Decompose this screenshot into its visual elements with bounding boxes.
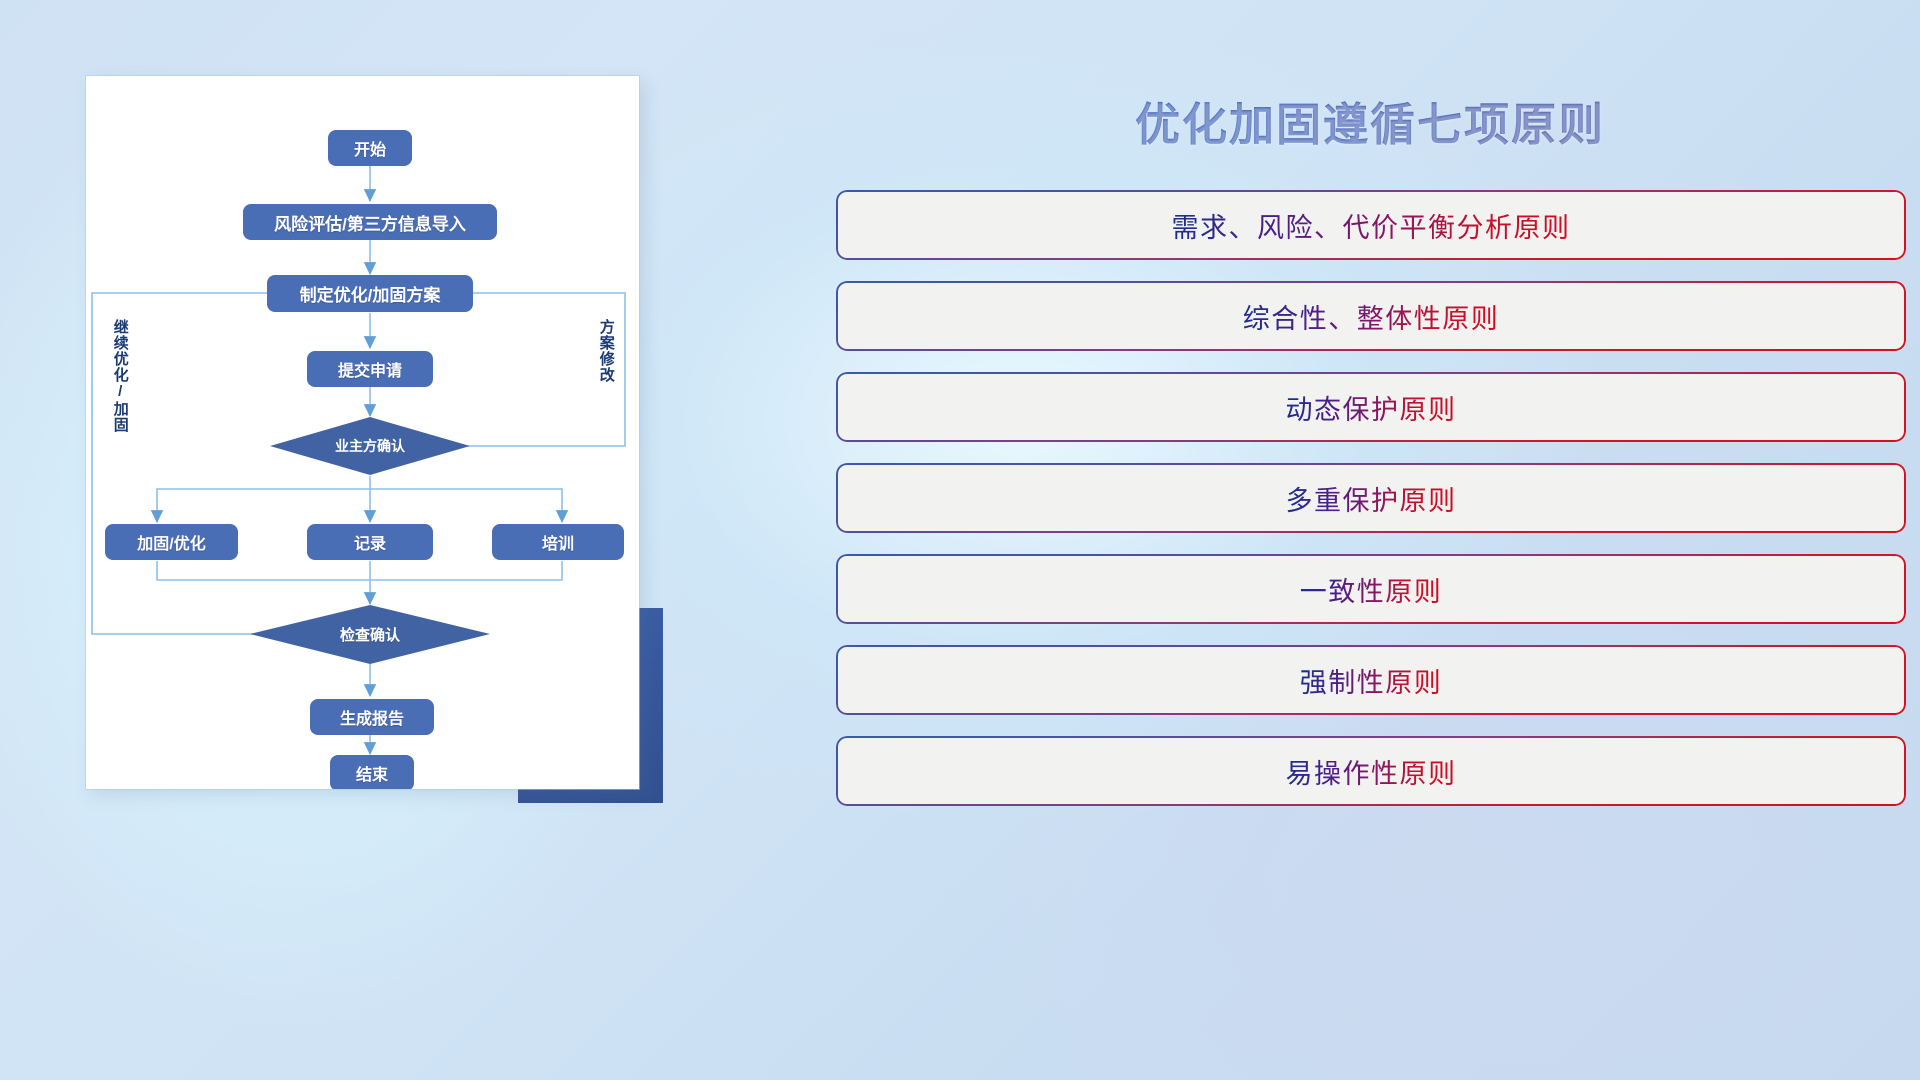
principle-label: 一致性原则 — [1300, 570, 1443, 609]
flow-edge-label-plan-revision: 方案修改 — [598, 319, 614, 383]
principle-label: 需求、风险、代价平衡分析原则 — [1172, 206, 1571, 245]
flowchart-panel: 开始 风险评估/第三方信息导入 制定优化/加固方案 提交申请 业主方确认 加固/… — [0, 0, 820, 1080]
principle-label: 综合性、整体性原则 — [1243, 297, 1500, 336]
principle-label: 强制性原则 — [1300, 661, 1443, 700]
principle-item-2[interactable]: 综合性、整体性原则 — [836, 281, 1906, 351]
flow-edge-label-continue-optimize: 继续优化/加固 — [112, 319, 128, 433]
principle-item-6[interactable]: 强制性原则 — [836, 645, 1906, 715]
flowchart-card: 开始 风险评估/第三方信息导入 制定优化/加固方案 提交申请 业主方确认 加固/… — [86, 76, 639, 789]
principles-list: 需求、风险、代价平衡分析原则 综合性、整体性原则 动态保护原则 多重保护原则 一… — [836, 190, 1906, 827]
principle-label: 动态保护原则 — [1286, 388, 1457, 427]
principle-item-3[interactable]: 动态保护原则 — [836, 372, 1906, 442]
principle-item-5[interactable]: 一致性原则 — [836, 554, 1906, 624]
principles-panel: 优化加固遵循七项原则 需求、风险、代价平衡分析原则 综合性、整体性原则 动态保护… — [820, 0, 1920, 1080]
principle-label: 易操作性原则 — [1286, 752, 1457, 791]
principle-item-7[interactable]: 易操作性原则 — [836, 736, 1906, 806]
principle-item-4[interactable]: 多重保护原则 — [836, 463, 1906, 533]
flowchart-graphics — [86, 76, 639, 789]
principle-item-1[interactable]: 需求、风险、代价平衡分析原则 — [836, 190, 1906, 260]
principles-title: 优化加固遵循七项原则 — [820, 88, 1920, 153]
principle-label: 多重保护原则 — [1286, 479, 1457, 518]
